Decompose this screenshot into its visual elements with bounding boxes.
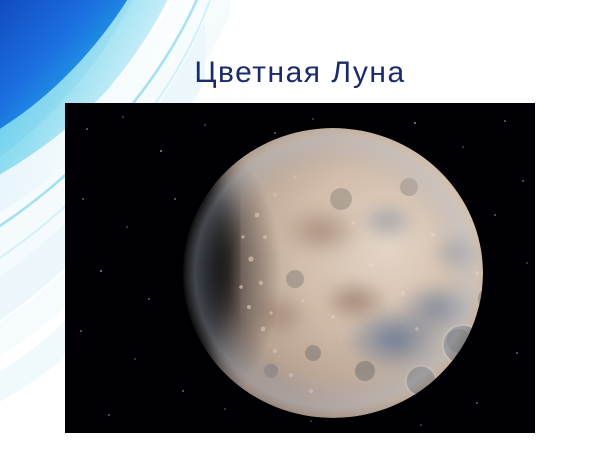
moon-photo: [65, 103, 535, 433]
moon-image: [65, 103, 535, 433]
slide-title: Цветная Луна: [0, 56, 600, 90]
slide-canvas: Цветная Луна: [0, 0, 600, 450]
